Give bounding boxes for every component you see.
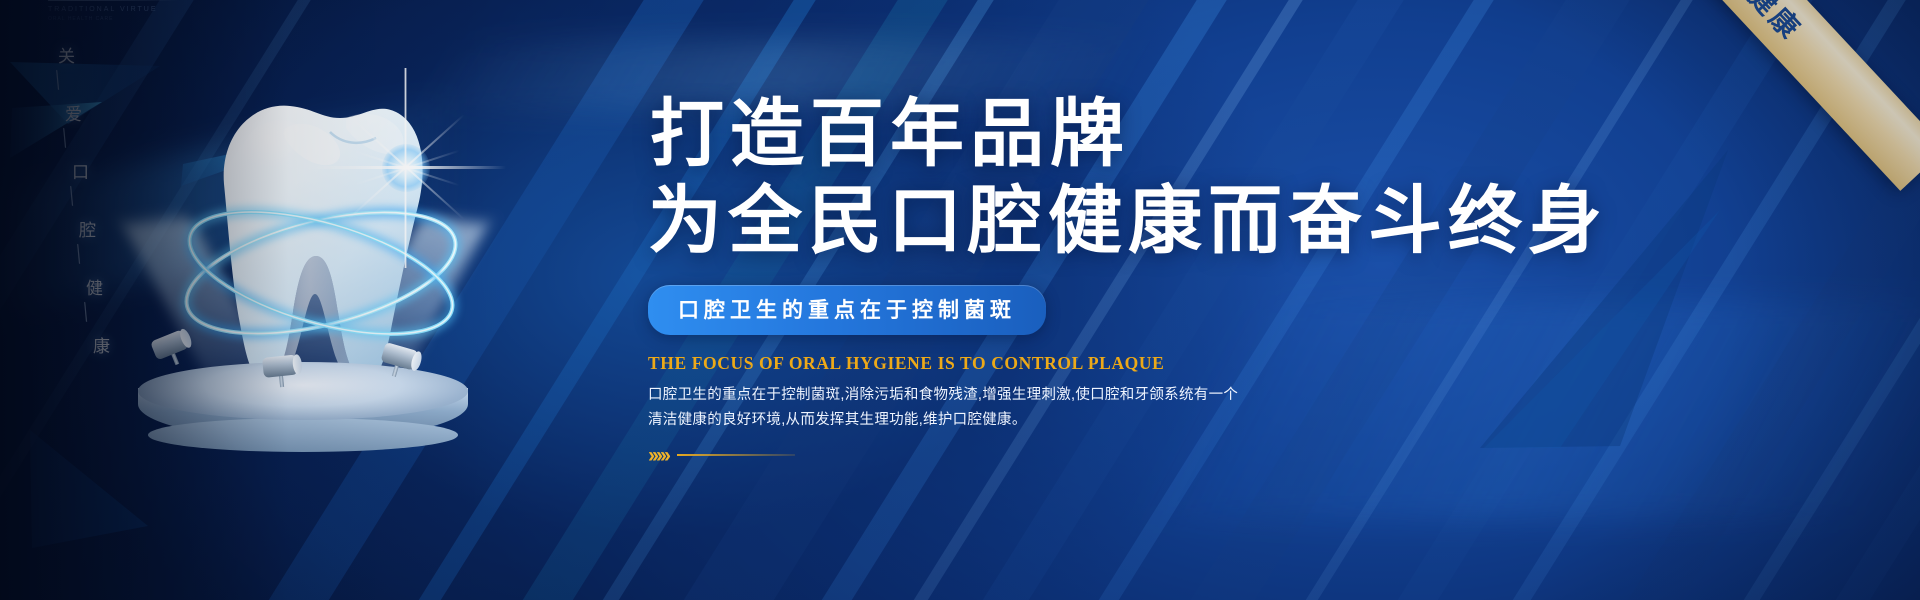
display-platform bbox=[138, 362, 468, 458]
vertical-slogan-sep-5: ╲ bbox=[78, 302, 93, 322]
headline-line-1: 打造百年品牌 bbox=[650, 96, 1828, 171]
body-paragraph: 口腔卫生的重点在于控制菌斑,消除污垢和食物残渣,增强生理刺激,使口腔和牙颌系统有… bbox=[648, 383, 1828, 433]
vertical-slogan-char-5: 健 bbox=[86, 274, 104, 299]
body-paragraph-line-1: 口腔卫生的重点在于控制菌斑,消除污垢和食物残渣,增强生理刺激,使口腔和牙颌系统有… bbox=[648, 383, 1828, 408]
vertical-slogan-char-4: 腔 bbox=[79, 216, 97, 241]
headline-line-2: 为全民口腔健康而奋斗终身 bbox=[648, 183, 1828, 258]
chevron-decoration: › › › › › bbox=[648, 445, 1828, 466]
subtitle-pill-badge[interactable]: 口腔卫生的重点在于控制菌斑 bbox=[648, 285, 1046, 335]
decor-caption-en: TRADITIONAL VIRTUE bbox=[48, 6, 178, 13]
chevron-right-icon: › bbox=[664, 445, 671, 466]
vertical-slogan-char-1: 关 bbox=[58, 42, 76, 67]
vertical-slogan-sep-3: ╲ bbox=[64, 186, 79, 206]
vertical-slogan-char-3: 口 bbox=[72, 158, 90, 183]
vertical-slogan-sep-4: ╲ bbox=[71, 244, 86, 264]
orbit-ring-back bbox=[166, 198, 476, 348]
vertical-slogan-sep-1: ╲ bbox=[50, 70, 65, 90]
english-subtitle: THE FOCUS OF ORAL HYGIENE IS TO CONTROL … bbox=[648, 353, 1828, 374]
chevron-rule bbox=[677, 454, 795, 456]
body-paragraph-line-2: 清洁健康的良好环境,从而发挥其生理功能,维护口腔健康。 bbox=[648, 408, 1828, 433]
vertical-slogan-char-6: 康 bbox=[93, 332, 111, 357]
tooth-illustration bbox=[120, 70, 520, 450]
dental-promo-banner: TRADITIONAL VIRTUE ORAL HEALTH CARE 关 ╲ … bbox=[0, 0, 1920, 600]
vertical-slogan-char-2: 爱 bbox=[65, 100, 83, 125]
corner-ribbon-label: 关爱口腔健康 bbox=[1652, 0, 1812, 49]
vertical-slogan-sep-2: ╲ bbox=[57, 128, 72, 148]
content-block: 打造百年品牌 为全民口腔健康而奋斗终身 口腔卫生的重点在于控制菌斑 THE FO… bbox=[648, 96, 1828, 466]
